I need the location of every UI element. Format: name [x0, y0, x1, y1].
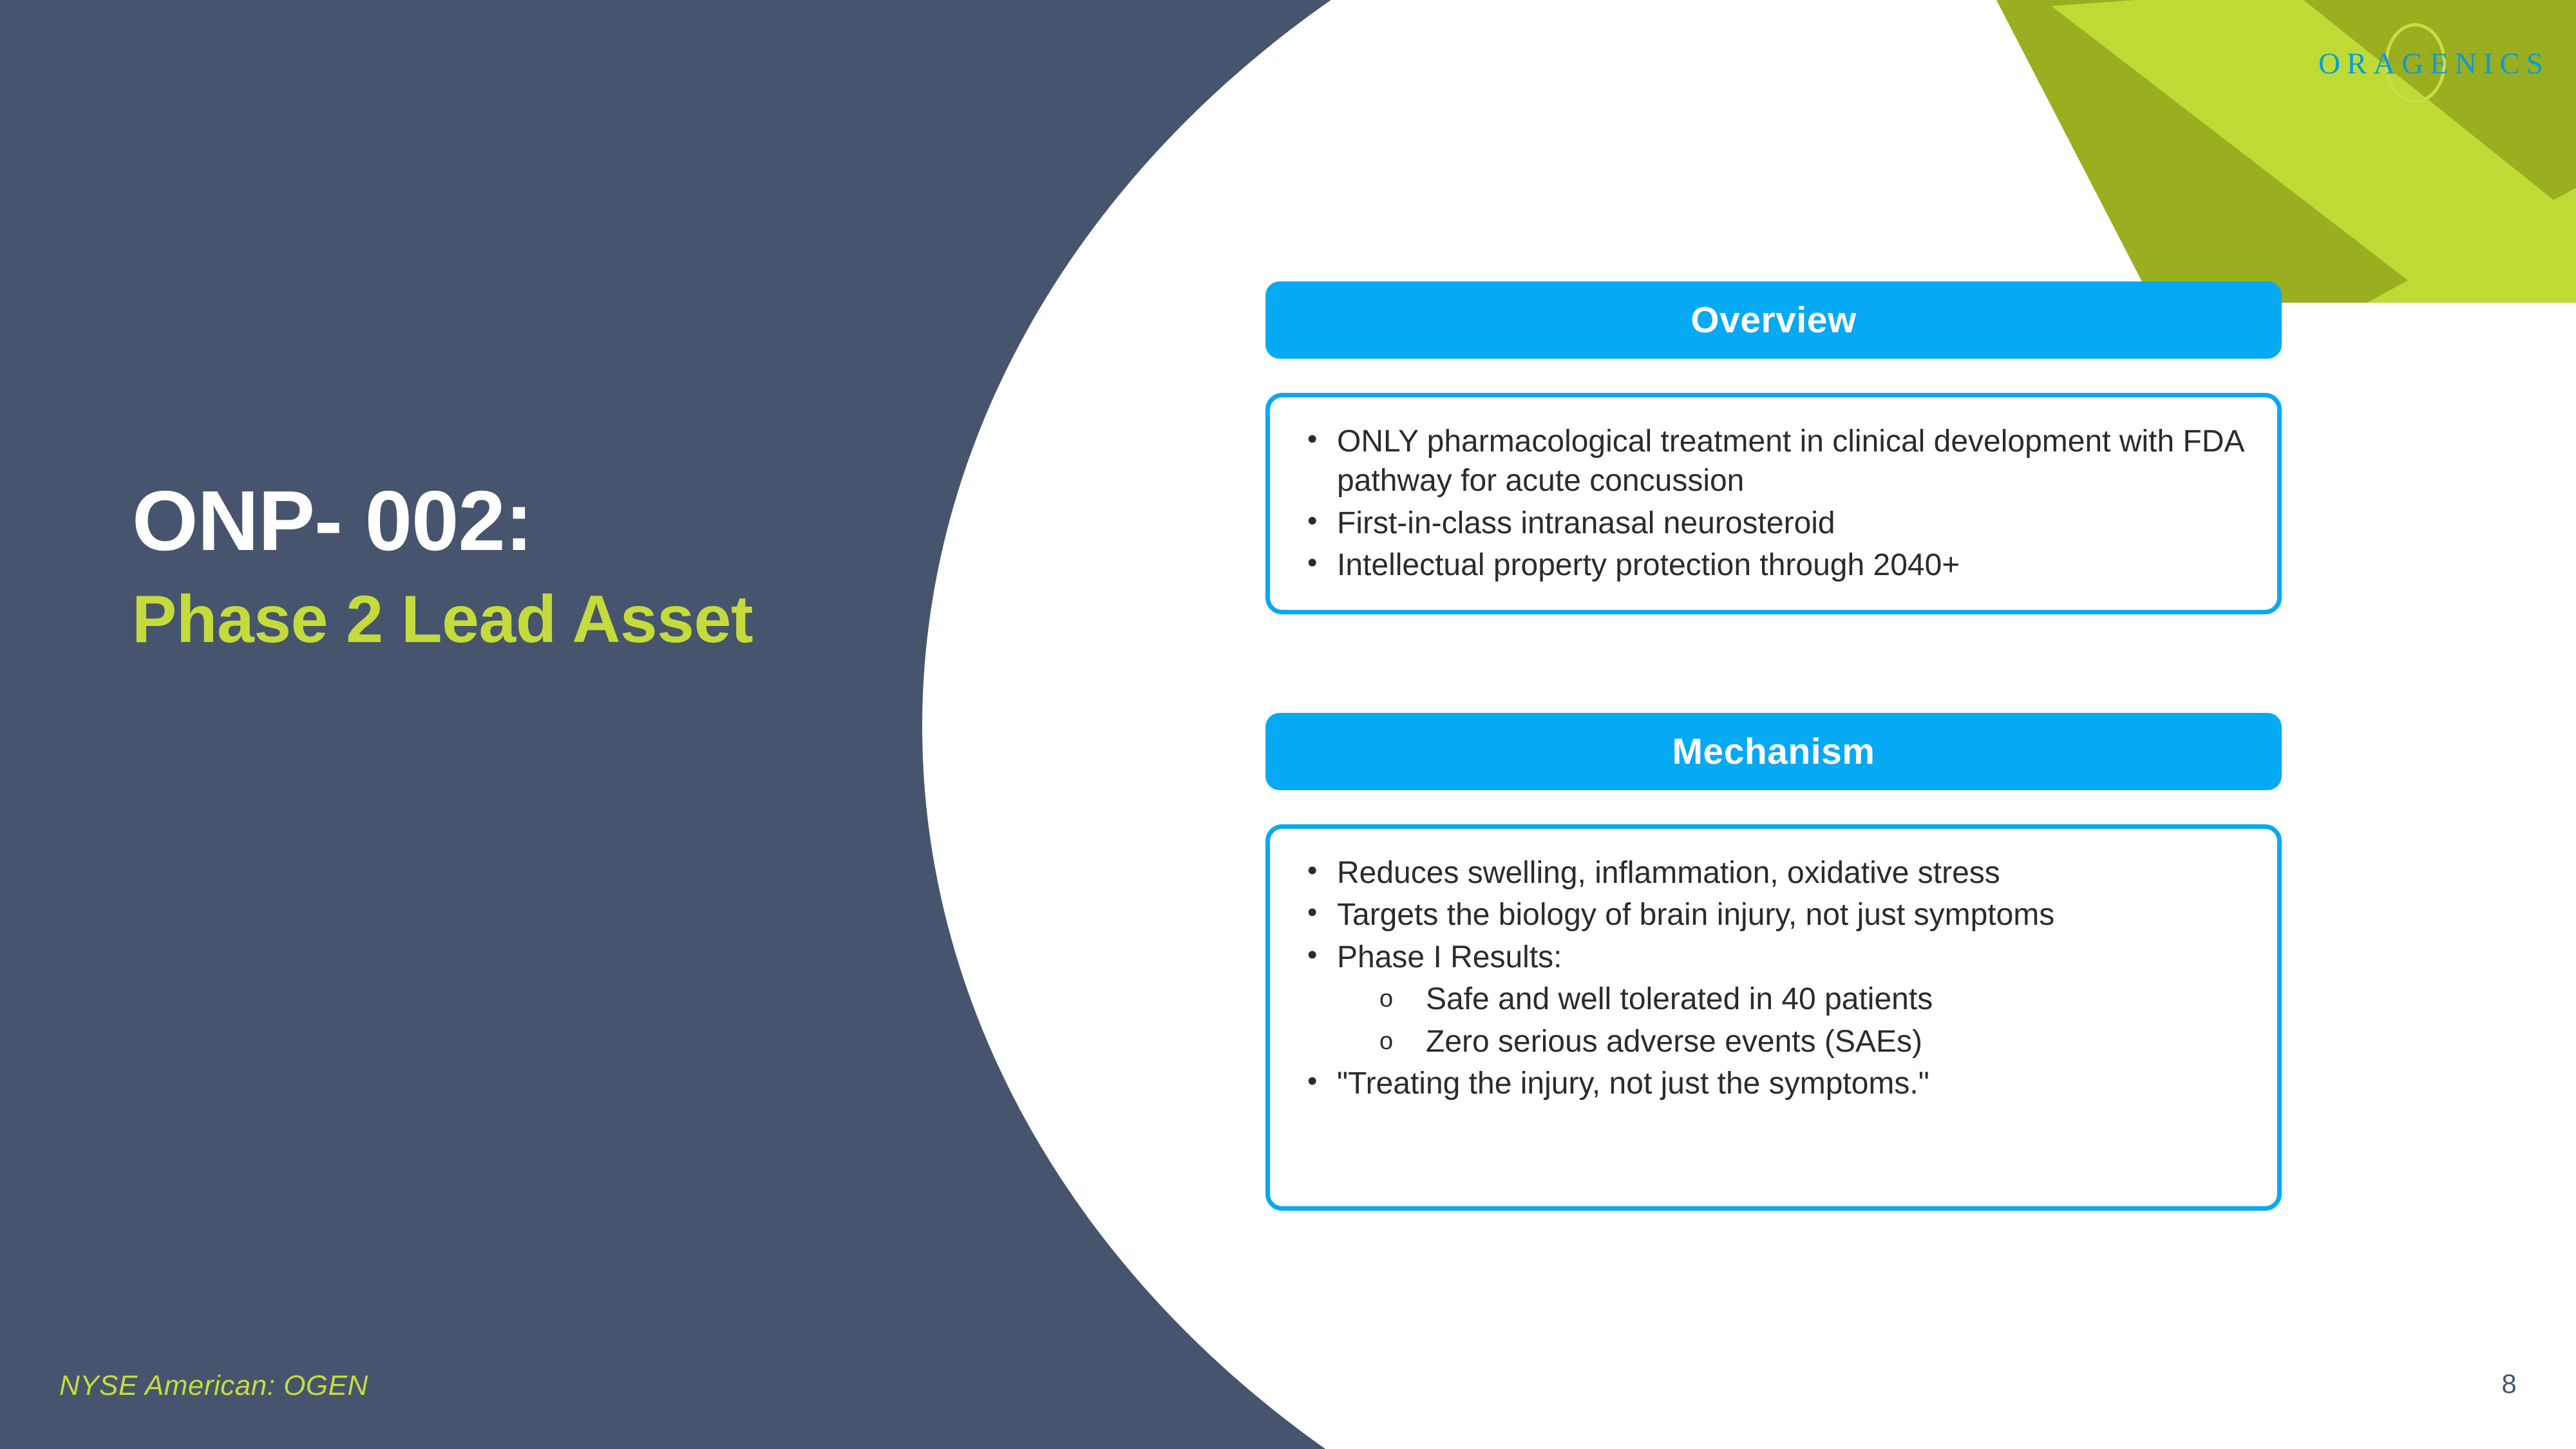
page-subtitle: Phase 2 Lead Asset [132, 580, 937, 659]
logo-wordmark: ORAGENICS [2318, 49, 2570, 79]
list-item: Intellectual property protection through… [1297, 545, 2250, 585]
panel-header-overview: Overview [1265, 281, 2282, 359]
panel-body-overview: ONLY pharmacological treatment in clinic… [1265, 393, 2282, 614]
list-item: ONLY pharmacological treatment in clinic… [1297, 422, 2250, 501]
list-item: Phase I Results: [1297, 938, 2250, 977]
footer-ticker: NYSE American: OGEN [59, 1372, 368, 1400]
list-item: Targets the biology of brain injury, not… [1297, 895, 2250, 934]
sub-list-item: Zero serious adverse events (SAEs) [1297, 1022, 2250, 1061]
list-item: First-in-class intranasal neurosteroid [1297, 504, 2250, 543]
sub-list-item: Safe and well tolerated in 40 patients [1297, 980, 2250, 1019]
panel-mechanism: Mechanism Reduces swelling, inflammation… [1265, 713, 2282, 1211]
bullet-list-mechanism: Reduces swelling, inflammation, oxidativ… [1297, 853, 2250, 1104]
panel-header-label-mechanism: Mechanism [1672, 734, 1875, 770]
oragenics-logo: ORAGENICS [2318, 31, 2570, 102]
list-item: "Treating the injury, not just the sympt… [1297, 1064, 2250, 1103]
panel-header-mechanism: Mechanism [1265, 713, 2282, 790]
slide-canvas: ORAGENICS ONP- 002: Phase 2 Lead Asset O… [0, 0, 2576, 1449]
bullet-list-overview: ONLY pharmacological treatment in clinic… [1297, 422, 2250, 585]
panel-header-label-overview: Overview [1690, 302, 1857, 339]
panel-overview: Overview ONLY pharmacological treatment … [1265, 281, 2282, 614]
page-number: 8 [2490, 1370, 2528, 1397]
page-title: ONP- 002: [132, 477, 937, 566]
slide-title-block: ONP- 002: Phase 2 Lead Asset [132, 477, 937, 659]
list-item: Reduces swelling, inflammation, oxidativ… [1297, 853, 2250, 893]
panel-body-mechanism: Reduces swelling, inflammation, oxidativ… [1265, 824, 2282, 1211]
